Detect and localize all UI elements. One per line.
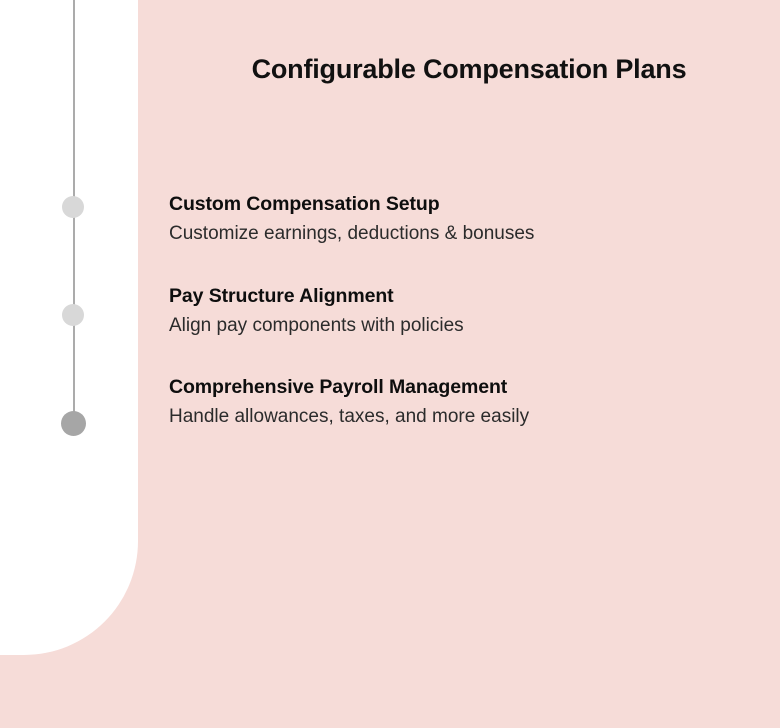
list-item[interactable]: Pay Structure Alignment Align pay compon… <box>169 284 769 339</box>
timeline-dot-2[interactable] <box>62 304 84 326</box>
timeline-dot-3[interactable] <box>61 411 86 436</box>
feature-description: Handle allowances, taxes, and more easil… <box>169 405 769 430</box>
feature-description: Align pay components with policies <box>169 314 769 339</box>
slide-canvas: Configurable Compensation Plans Custom C… <box>0 0 780 728</box>
feature-title: Comprehensive Payroll Management <box>169 375 769 401</box>
timeline-rail <box>0 0 138 728</box>
list-item[interactable]: Custom Compensation Setup Customize earn… <box>169 192 769 247</box>
timeline-dot-1[interactable] <box>62 196 84 218</box>
page-title: Configurable Compensation Plans <box>192 53 746 85</box>
feature-title: Pay Structure Alignment <box>169 284 769 310</box>
feature-list: Custom Compensation Setup Customize earn… <box>169 192 769 430</box>
list-item[interactable]: Comprehensive Payroll Management Handle … <box>169 375 769 430</box>
content-column: Configurable Compensation Plans Custom C… <box>169 0 769 728</box>
feature-description: Customize earnings, deductions & bonuses <box>169 222 769 247</box>
feature-title: Custom Compensation Setup <box>169 192 769 218</box>
